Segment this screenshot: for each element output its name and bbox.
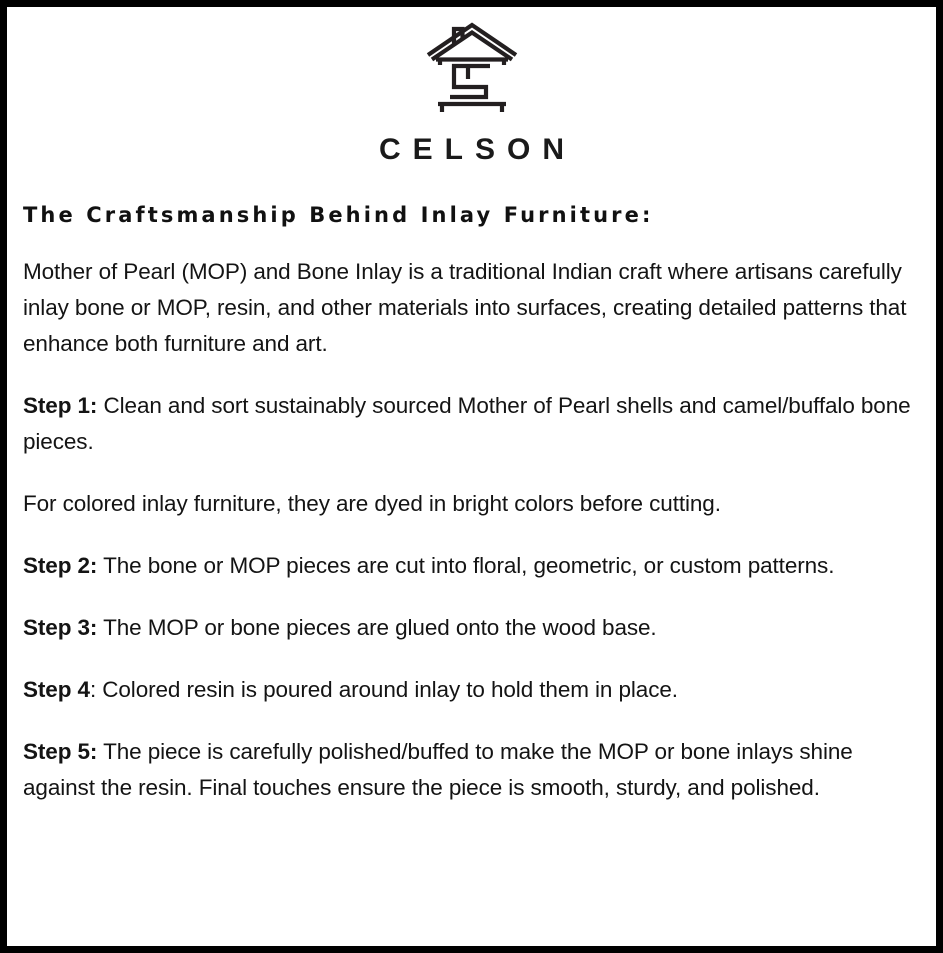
paragraph-text: Mother of Pearl (MOP) and Bone Inlay is … <box>23 259 906 356</box>
paragraph-step-3: Step 3: The MOP or bone pieces are glued… <box>23 610 920 646</box>
poster-card: CELSON The Craftsmanship Behind Inlay Fu… <box>0 0 943 953</box>
paragraph-text: For colored inlay furniture, they are dy… <box>23 491 721 516</box>
article-body: Mother of Pearl (MOP) and Bone Inlay is … <box>23 254 920 806</box>
poster-content: CELSON The Craftsmanship Behind Inlay Fu… <box>7 7 936 946</box>
paragraph-dyeing-note: For colored inlay furniture, they are dy… <box>23 486 920 522</box>
paragraph-lead: Step 3: <box>23 615 97 640</box>
paragraph-step-2: Step 2: The bone or MOP pieces are cut i… <box>23 548 920 584</box>
paragraph-text: The piece is carefully polished/buffed t… <box>23 739 853 800</box>
paragraph-step-4: Step 4: Colored resin is poured around i… <box>23 672 920 708</box>
paragraph-lead: Step 5: <box>23 739 97 764</box>
brand-block: CELSON <box>23 15 920 165</box>
paragraph-step-1: Step 1: Clean and sort sustainably sourc… <box>23 388 920 460</box>
paragraph-text: Clean and sort sustainably sourced Mothe… <box>23 393 911 454</box>
paragraph-step-5: Step 5: The piece is carefully polished/… <box>23 734 920 806</box>
house-with-letter-c-icon <box>424 19 520 121</box>
paragraph-intro: Mother of Pearl (MOP) and Bone Inlay is … <box>23 254 920 362</box>
page-title: The Craftsmanship Behind Inlay Furniture… <box>23 203 920 228</box>
paragraph-text: The MOP or bone pieces are glued onto th… <box>97 615 656 640</box>
paragraph-text: : Colored resin is poured around inlay t… <box>90 677 678 702</box>
brand-wordmark: CELSON <box>23 135 920 165</box>
paragraph-lead: Step 1: <box>23 393 97 418</box>
paragraph-lead: Step 4 <box>23 677 90 702</box>
paragraph-lead: Step 2: <box>23 553 97 578</box>
paragraph-text: The bone or MOP pieces are cut into flor… <box>97 553 834 578</box>
